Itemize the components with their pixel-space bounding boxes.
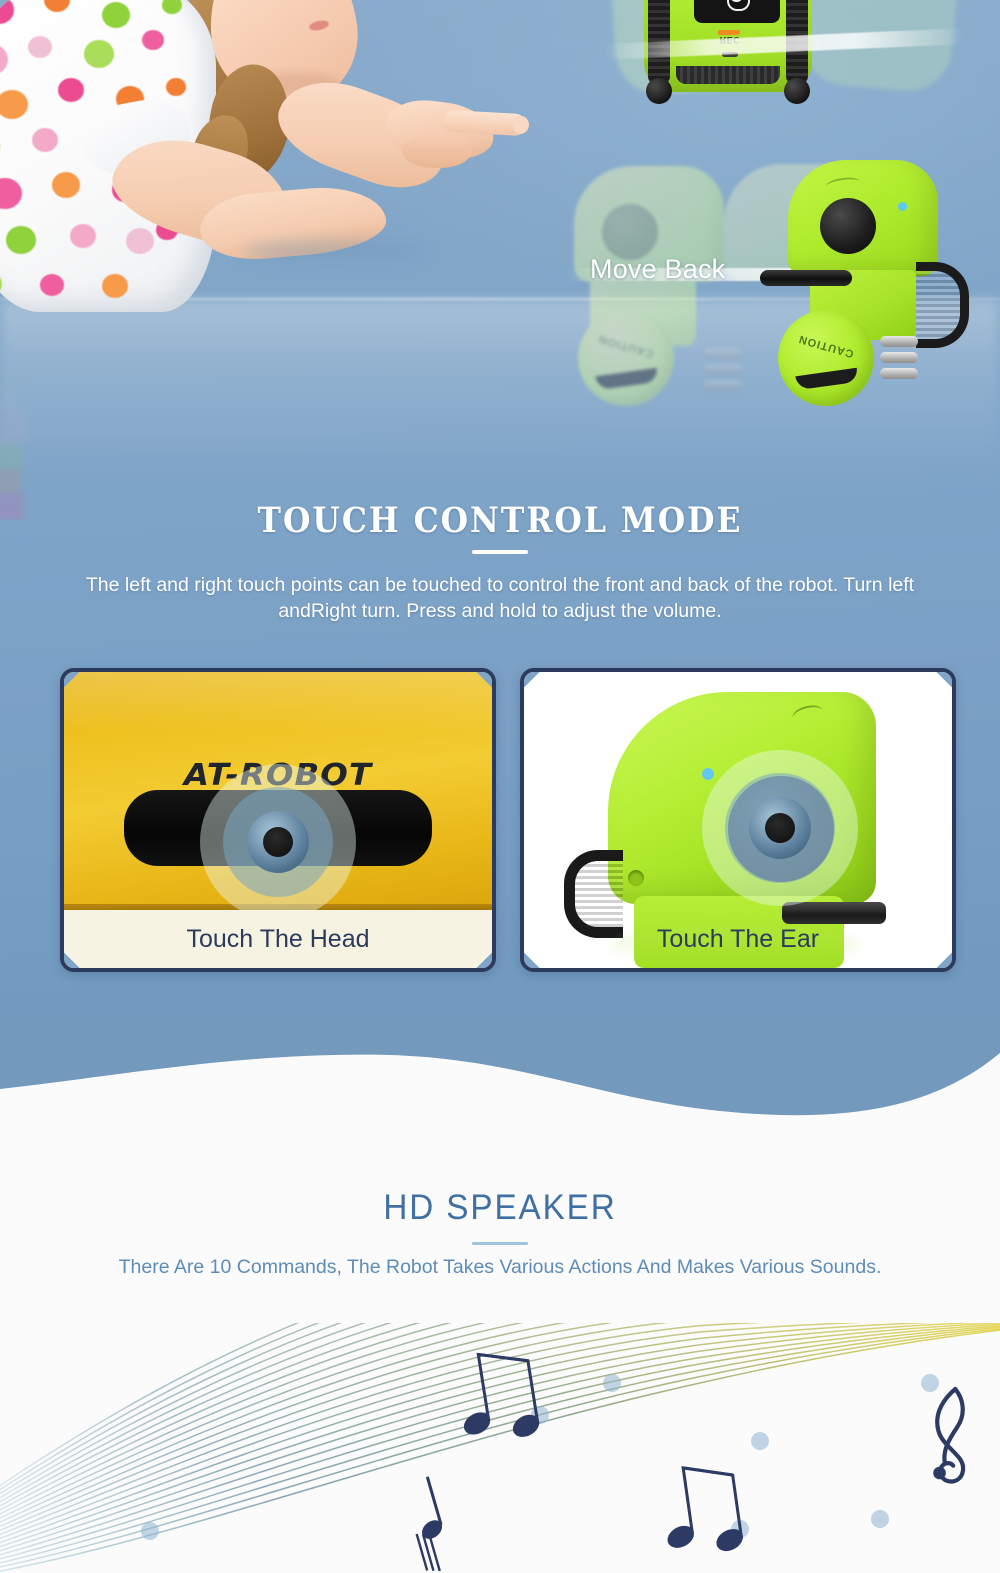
- music-dot: [141, 1522, 159, 1540]
- robot-eye: [820, 198, 876, 254]
- robot-knob-right: [784, 78, 810, 104]
- dress-dot: [142, 30, 164, 50]
- knuckles: [402, 134, 472, 168]
- dress-dot: [6, 226, 36, 254]
- hd-speaker-section: HD SPEAKER There Are 10 Commands, The Ro…: [0, 1135, 1000, 1573]
- move-back-label: Move Back: [590, 254, 725, 285]
- touch-card-ear[interactable]: Touch The Ear: [520, 668, 956, 972]
- dress-dot: [0, 389, 18, 411]
- hero-section: REC CAUTION: [0, 0, 1000, 1135]
- dress-dot: [102, 274, 128, 298]
- dress-dot: [0, 312, 26, 341]
- speaker-section-subtitle: There Are 10 Commands, The Robot Takes V…: [100, 1253, 900, 1281]
- child-photo: [0, 0, 554, 314]
- dress-dot: [162, 0, 182, 14]
- wave-divider: [0, 1015, 1000, 1145]
- dress-dot: [0, 178, 22, 209]
- dress-dot: [0, 272, 2, 296]
- staff-line: [0, 1323, 1000, 1538]
- dress-dot: [32, 128, 58, 152]
- music-dot: [751, 1432, 769, 1450]
- music-dot: [921, 1374, 939, 1392]
- dress-dot: [58, 78, 84, 102]
- dress-dot: [0, 342, 16, 362]
- speaker-section-title: HD SPEAKER: [25, 1188, 975, 1228]
- robot-brow: [825, 176, 860, 193]
- gold-sheen: [64, 672, 492, 732]
- robot-pistons: [880, 336, 920, 388]
- dress-dot: [70, 224, 96, 248]
- dress-dot: [44, 0, 70, 12]
- dress-dot: [0, 469, 20, 493]
- robot-wheel: CAUTION: [778, 310, 874, 406]
- dress-dot: [0, 362, 24, 390]
- caution-label: CAUTION: [790, 330, 863, 361]
- dress-dot: [84, 40, 114, 68]
- staff-line: [0, 1323, 1000, 1504]
- music-dot: [871, 1510, 889, 1528]
- dress-dot: [0, 0, 14, 24]
- green-robot-ear: [728, 776, 834, 882]
- dress-dot: [0, 90, 28, 119]
- music-note-icon: [655, 1461, 748, 1564]
- robot-visor: [694, 0, 780, 23]
- touch-section-title: TOUCH CONTROL MODE: [50, 500, 950, 541]
- dress-dot: [0, 492, 24, 520]
- treble-clef-icon: [933, 1389, 963, 1482]
- robot-status-led: [898, 202, 907, 211]
- dress-dot: [28, 36, 52, 58]
- robot-grille: [676, 66, 780, 84]
- ghost-wheel-slot: [595, 368, 658, 390]
- dress-dot: [0, 443, 22, 469]
- gold-robot-visor: [124, 790, 432, 866]
- music-dot: [603, 1374, 621, 1392]
- product-detail-page: REC CAUTION: [0, 0, 1000, 1573]
- robot-knob-left: [646, 78, 672, 104]
- touch-section-subtitle: The left and right touch points can be t…: [50, 572, 950, 624]
- speaker-section-divider: [472, 1242, 528, 1245]
- ghost-wheel: CAUTION: [578, 310, 674, 406]
- music-note-icon: [402, 1476, 456, 1573]
- arm-shadow: [244, 240, 424, 262]
- dress-dot: [102, 2, 130, 28]
- pointing-finger: [443, 110, 526, 136]
- robot-arm: [760, 270, 852, 286]
- green-robot-port: [628, 870, 644, 886]
- dress-dot: [126, 228, 154, 254]
- wheel-slot: [795, 368, 858, 390]
- dress-dot: [0, 411, 28, 442]
- robot-tail-hose: [916, 262, 969, 348]
- robot-move-back: CAUTION CAUTION: [560, 150, 980, 390]
- dress-dot: [52, 172, 80, 198]
- robot-status-led: [702, 768, 714, 780]
- dress-dot: [40, 274, 64, 296]
- touch-section-divider: [472, 550, 528, 554]
- at-robot-logo: AT-ROBOT: [60, 758, 496, 793]
- ghost-caution-label: CAUTION: [590, 330, 663, 361]
- microphone-icon: [731, 0, 742, 2]
- touch-card-ear-caption: Touch The Ear: [524, 910, 952, 968]
- child-reflection: [0, 300, 554, 520]
- dress-dot: [166, 78, 186, 96]
- ghost-eye: [602, 204, 658, 260]
- staff-line: [0, 1323, 1000, 1535]
- ghost-pistons: [704, 348, 744, 400]
- robot-top-view: REC: [608, 0, 838, 96]
- staff-line: [0, 1323, 1000, 1508]
- music-staff-illustration: [0, 1323, 1000, 1573]
- touch-card-head-caption: Touch The Head: [64, 910, 492, 968]
- dress-dot: [0, 44, 8, 75]
- touch-card-head[interactable]: AT-ROBOT Touch The Head: [60, 668, 496, 972]
- gold-robot-face-image: AT-ROBOT: [64, 672, 492, 910]
